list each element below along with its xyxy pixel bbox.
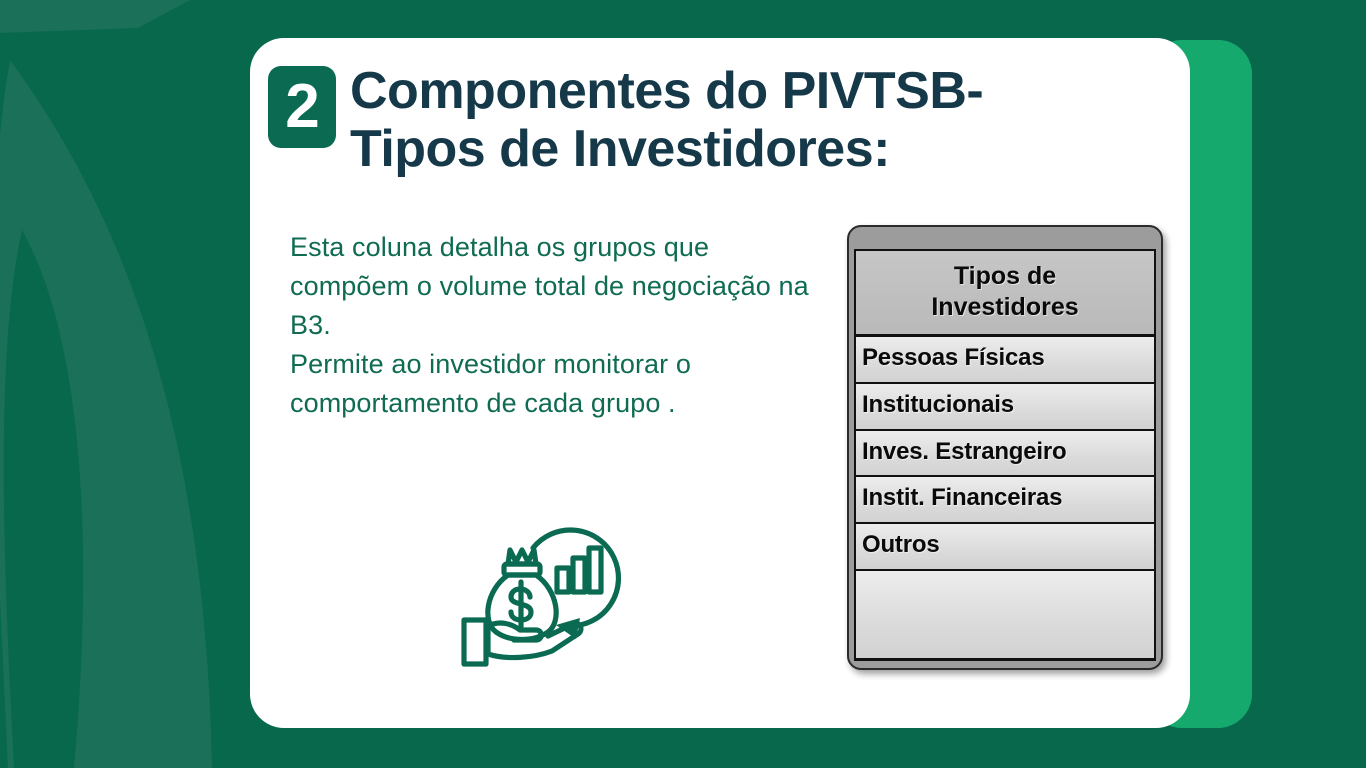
leaf-shape-large — [0, 60, 212, 768]
content-card: 2 Componentes do PIVTSB- Tipos de Invest… — [250, 38, 1190, 728]
table-row: Pessoas Físicas — [856, 337, 1154, 384]
step-number-badge: 2 — [268, 66, 336, 148]
leaf-shape-inner-cutout — [4, 230, 83, 768]
corner-wedge-shape — [0, 0, 190, 33]
page-title: Componentes do PIVTSB- Tipos de Investid… — [350, 62, 983, 178]
body-paragraph: Esta coluna detalha os grupos que compõe… — [290, 228, 810, 422]
card-header: 2 Componentes do PIVTSB- Tipos de Invest… — [268, 66, 983, 178]
table-row: Institucionais — [856, 384, 1154, 431]
table-row: Instit. Financeiras — [856, 477, 1154, 524]
table-row: Outros — [856, 524, 1154, 571]
table-inner: Tipos de Investidores Pessoas Físicas In… — [854, 249, 1156, 661]
table-row-empty — [856, 571, 1154, 658]
table-top-strip — [854, 233, 1156, 249]
investor-types-table: Tipos de Investidores Pessoas Físicas In… — [847, 225, 1163, 670]
hand-holding-money-bag-with-growth-chart-icon — [448, 508, 658, 668]
table-row: Inves. Estrangeiro — [856, 431, 1154, 478]
table-column-header: Tipos de Investidores — [856, 251, 1154, 337]
